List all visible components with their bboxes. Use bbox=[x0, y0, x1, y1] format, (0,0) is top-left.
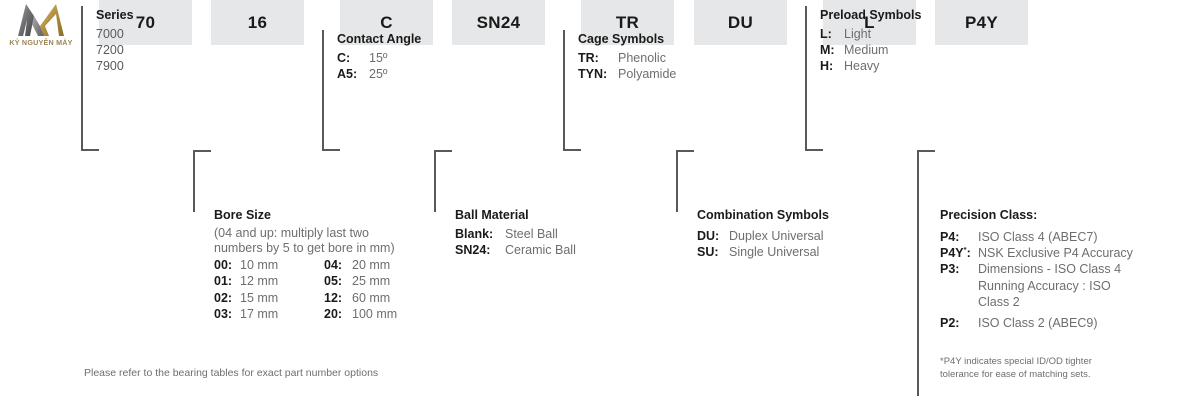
connector-bore-size-v bbox=[193, 150, 195, 212]
combination-symbols-row: SU: Single Universal bbox=[697, 244, 829, 260]
row-key-p4y: P4Y*: bbox=[940, 245, 978, 261]
code-box-combination[interactable]: DU bbox=[694, 0, 787, 45]
row-key: M: bbox=[820, 42, 844, 58]
row-value: Phenolic bbox=[618, 50, 666, 66]
row-key: 01: bbox=[214, 273, 240, 289]
row-key: A5: bbox=[337, 66, 369, 82]
row-value: ISO Class 2 (ABEC9) bbox=[978, 315, 1097, 331]
row-key: P4: bbox=[940, 229, 978, 245]
combination-symbols-row: DU: Duplex Universal bbox=[697, 228, 829, 244]
row-key bbox=[940, 294, 978, 310]
precision-class-row: P2: ISO Class 2 (ABEC9) bbox=[940, 315, 1133, 331]
preload-symbols-row: H: Heavy bbox=[820, 58, 921, 74]
row-value: 20 mm bbox=[352, 257, 390, 273]
part-number-nomenclature-diagram: KỶ NGUYÊN MÁY 70 16 C SN24 TR DU L P4Y S… bbox=[0, 0, 1200, 400]
preload-symbols-row: M: Medium bbox=[820, 42, 921, 58]
combination-symbols-title: Combination Symbols bbox=[697, 208, 829, 224]
callout-contact-angle: Contact Angle C: 15º A5: 25º bbox=[337, 32, 421, 82]
connector-combination-v bbox=[676, 150, 678, 212]
row-value: Single Universal bbox=[729, 244, 819, 260]
bore-size-row: 20: 100 mm bbox=[324, 306, 397, 322]
code-box-precision[interactable]: P4Y bbox=[935, 0, 1028, 45]
connector-ball-material-v bbox=[434, 150, 436, 212]
cage-symbols-row: TR: Phenolic bbox=[578, 50, 676, 66]
bore-size-row: 04: 20 mm bbox=[324, 257, 397, 273]
row-key: P3: bbox=[940, 261, 978, 277]
divider-series bbox=[81, 6, 83, 150]
row-key: C: bbox=[337, 50, 369, 66]
row-key: P2: bbox=[940, 315, 978, 331]
row-key bbox=[940, 278, 978, 294]
logo-m-icon bbox=[16, 2, 66, 38]
row-value: 25 mm bbox=[352, 273, 390, 289]
row-value: Medium bbox=[844, 42, 888, 58]
callout-ball-material: Ball Material Blank: Steel Ball SN24: Ce… bbox=[455, 208, 576, 258]
preload-symbols-row: L: Light bbox=[820, 26, 921, 42]
callout-series: Series 7000 7200 7900 bbox=[96, 8, 134, 74]
row-value: 15 mm bbox=[240, 290, 278, 306]
divider-preload-symbols bbox=[805, 6, 807, 150]
bore-size-row: 02: 15 mm bbox=[214, 290, 324, 306]
bore-size-row: 12: 60 mm bbox=[324, 290, 397, 306]
row-value: Running Accuracy : ISO bbox=[978, 278, 1111, 294]
row-value: Duplex Universal bbox=[729, 228, 823, 244]
bore-size-note-line1: (04 and up: multiply last two bbox=[214, 226, 397, 241]
footnote-line2: tolerance for ease of matching sets. bbox=[940, 369, 1092, 382]
connector-combination-h bbox=[676, 150, 694, 152]
contact-angle-row: C: 15º bbox=[337, 50, 421, 66]
precision-class-row: Class 2 bbox=[940, 294, 1133, 310]
bore-size-row: 00: 10 mm bbox=[214, 257, 324, 273]
callout-preload-symbols: Preload Symbols L: Light M: Medium H: He… bbox=[820, 8, 921, 74]
row-key: TYN: bbox=[578, 66, 618, 82]
precision-class-title: Precision Class: bbox=[940, 208, 1133, 224]
row-value: Heavy bbox=[844, 58, 879, 74]
bore-size-row: 05: 25 mm bbox=[324, 273, 397, 289]
ball-material-title: Ball Material bbox=[455, 208, 576, 224]
row-value: 12 mm bbox=[240, 273, 278, 289]
logo-wordmark: KỶ NGUYÊN MÁY bbox=[2, 38, 80, 47]
divider-contact-angle bbox=[322, 30, 324, 150]
ball-material-row: SN24: Ceramic Ball bbox=[455, 242, 576, 258]
precision-class-row: Running Accuracy : ISO bbox=[940, 278, 1133, 294]
row-key: Blank: bbox=[455, 226, 505, 242]
cage-symbols-title: Cage Symbols bbox=[578, 32, 676, 48]
row-key: 03: bbox=[214, 306, 240, 322]
series-item: 7900 bbox=[96, 58, 134, 74]
contact-angle-title: Contact Angle bbox=[337, 32, 421, 48]
series-title: Series bbox=[96, 8, 134, 24]
ball-material-row: Blank: Steel Ball bbox=[455, 226, 576, 242]
row-value: Polyamide bbox=[618, 66, 676, 82]
connector-preload-symbols bbox=[805, 149, 823, 151]
row-value: 17 mm bbox=[240, 306, 278, 322]
connector-precision-h bbox=[917, 150, 935, 152]
series-item: 7200 bbox=[96, 42, 134, 58]
bore-size-note-line2: numbers by 5 to get bore in mm) bbox=[214, 241, 397, 256]
bearing-tables-note: Please refer to the bearing tables for e… bbox=[84, 367, 378, 379]
row-value: Steel Ball bbox=[505, 226, 558, 242]
row-key: 20: bbox=[324, 306, 352, 322]
row-key: DU: bbox=[697, 228, 729, 244]
row-value: 25º bbox=[369, 66, 387, 82]
row-key: L: bbox=[820, 26, 844, 42]
cage-symbols-row: TYN: Polyamide bbox=[578, 66, 676, 82]
row-key: 12: bbox=[324, 290, 352, 306]
row-value: 100 mm bbox=[352, 306, 397, 322]
callout-cage-symbols: Cage Symbols TR: Phenolic TYN: Polyamide bbox=[578, 32, 676, 82]
row-value: Ceramic Ball bbox=[505, 242, 576, 258]
row-value: 60 mm bbox=[352, 290, 390, 306]
row-key: SU: bbox=[697, 244, 729, 260]
row-value: Class 2 bbox=[978, 294, 1020, 310]
connector-series bbox=[81, 149, 99, 151]
connector-bore-size-h bbox=[193, 150, 211, 152]
divider-cage-symbols bbox=[563, 30, 565, 150]
row-key-tail: : bbox=[967, 246, 971, 260]
connector-precision-v bbox=[917, 150, 919, 396]
row-key: H: bbox=[820, 58, 844, 74]
precision-class-row: P3: Dimensions - ISO Class 4 bbox=[940, 261, 1133, 277]
row-key-text: P4Y bbox=[940, 246, 964, 260]
row-value: Dimensions - ISO Class 4 bbox=[978, 261, 1121, 277]
bore-size-title: Bore Size bbox=[214, 208, 397, 224]
row-value: 15º bbox=[369, 50, 387, 66]
callout-precision-class: Precision Class: P4: ISO Class 4 (ABEC7)… bbox=[940, 208, 1133, 331]
precision-class-footnote: *P4Y indicates special ID/OD tighter tol… bbox=[940, 356, 1092, 382]
brand-logo: KỶ NGUYÊN MÁY bbox=[2, 2, 80, 54]
bore-size-row: 01: 12 mm bbox=[214, 273, 324, 289]
row-value: NSK Exclusive P4 Accuracy bbox=[978, 245, 1133, 261]
row-value: 10 mm bbox=[240, 257, 278, 273]
callout-combination-symbols: Combination Symbols DU: Duplex Universal… bbox=[697, 208, 829, 260]
code-box-bore-size[interactable]: 16 bbox=[211, 0, 304, 45]
row-key: 00: bbox=[214, 257, 240, 273]
row-key: SN24: bbox=[455, 242, 505, 258]
precision-class-row: P4: ISO Class 4 (ABEC7) bbox=[940, 229, 1133, 245]
row-key: 05: bbox=[324, 273, 352, 289]
row-value: Light bbox=[844, 26, 871, 42]
footnote-line1: *P4Y indicates special ID/OD tighter bbox=[940, 356, 1092, 369]
connector-contact-angle bbox=[322, 149, 340, 151]
row-key: 04: bbox=[324, 257, 352, 273]
connector-ball-material-h bbox=[434, 150, 452, 152]
series-item: 7000 bbox=[96, 26, 134, 42]
row-key: 02: bbox=[214, 290, 240, 306]
contact-angle-row: A5: 25º bbox=[337, 66, 421, 82]
row-key: TR: bbox=[578, 50, 618, 66]
connector-cage-symbols bbox=[563, 149, 581, 151]
precision-class-row: P4Y*: NSK Exclusive P4 Accuracy bbox=[940, 245, 1133, 261]
callout-bore-size: Bore Size (04 and up: multiply last two … bbox=[214, 208, 397, 322]
code-box-ball-material[interactable]: SN24 bbox=[452, 0, 545, 45]
row-value: ISO Class 4 (ABEC7) bbox=[978, 229, 1097, 245]
bore-size-row: 03: 17 mm bbox=[214, 306, 324, 322]
preload-symbols-title: Preload Symbols bbox=[820, 8, 921, 24]
